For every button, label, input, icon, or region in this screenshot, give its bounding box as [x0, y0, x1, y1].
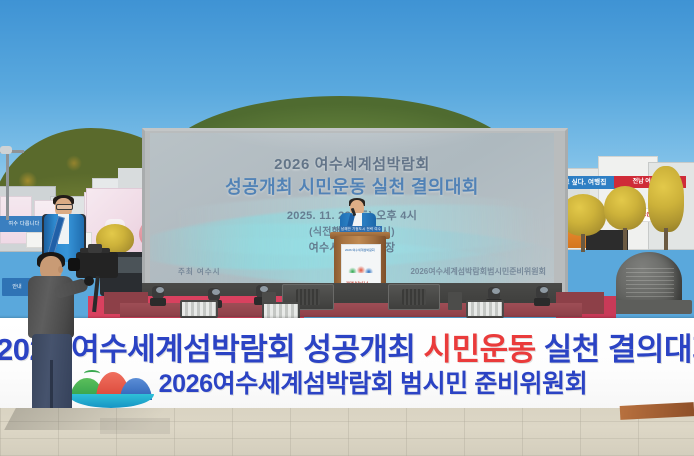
- stage-monitor-right: [448, 292, 462, 310]
- moving-light-5: [534, 286, 550, 306]
- light-lens: [540, 287, 548, 293]
- tree-trunk: [623, 228, 627, 250]
- podium-sign-title: 2026 여수세계섬박람회: [345, 248, 375, 252]
- street-lamp-icon: [0, 146, 12, 154]
- tree-crown: [648, 166, 684, 232]
- event-photo-scene: 여수 다릅니다 여수 다릅니다 안내 고 싶다, 여행집 전남 여수여행 조경손…: [0, 0, 694, 456]
- expo-logo-icon: [346, 259, 376, 273]
- ginkgo-tree-2: [604, 186, 646, 250]
- camera-viewfinder: [88, 244, 102, 253]
- banner-subline: 2026여수세계섬박람회 범시민 준비위원회: [0, 364, 694, 400]
- glasses-icon: [56, 204, 73, 210]
- video-camera-icon: [76, 252, 118, 278]
- light-lens: [212, 289, 220, 295]
- light-yoke: [150, 298, 166, 306]
- par-light-1: [180, 300, 218, 318]
- ground-patch: [100, 418, 170, 434]
- sash-text: [55, 226, 62, 228]
- moving-light-1: [150, 286, 166, 306]
- tree-trunk: [664, 228, 668, 250]
- monument-base: [608, 300, 692, 314]
- light-lens: [156, 287, 164, 293]
- tree-crown: [604, 186, 646, 230]
- led-title-line2: 성공개최 시민운동 실천 결의대회: [150, 173, 554, 199]
- par-light-3: [466, 300, 504, 318]
- cameraman-hand: [84, 276, 94, 286]
- led-title-line1: 2026 여수세계섬박람회: [150, 153, 554, 174]
- light-pole: [6, 150, 9, 220]
- ginkgo-tree-3: [648, 166, 684, 250]
- light-yoke: [534, 298, 550, 306]
- banner-headline-highlight: 시민운동: [424, 332, 536, 367]
- banner-headline-part2: 실천 결의대회: [536, 332, 694, 367]
- banner-headline: 2026 여수세계섬박람회 성공개최 시민운동 실천 결의대회: [0, 324, 694, 369]
- tree-trunk: [581, 234, 585, 252]
- light-lens: [492, 288, 500, 294]
- main-banner: 2026 여수세계섬박람회 성공개최 시민운동 실천 결의대회 2026여수세계…: [0, 318, 694, 412]
- led-host-label: 주최 여수시: [178, 266, 221, 277]
- led-organizer-label: 2026여수세계섬박람회범시민준비위원회: [410, 266, 546, 277]
- monument-inscription: [626, 268, 674, 300]
- camera-lens: [68, 258, 80, 271]
- cameraman-ear: [58, 266, 63, 273]
- paved-ground: [0, 408, 694, 456]
- stage-speaker-right: [388, 284, 440, 310]
